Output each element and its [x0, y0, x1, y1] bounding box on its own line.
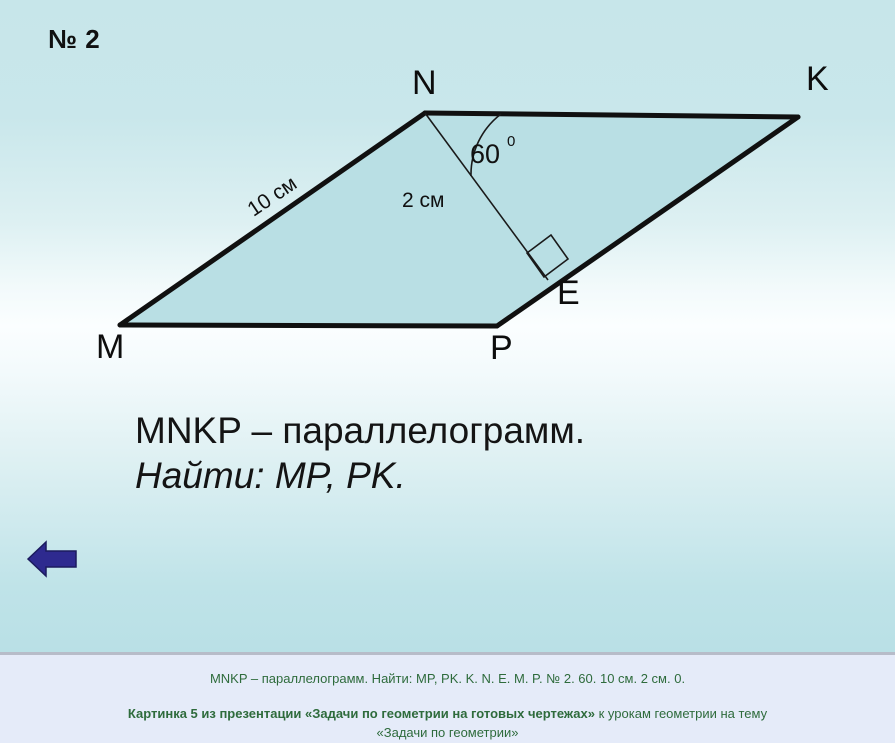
- angle-degree-symbol: 0: [507, 134, 515, 149]
- vertex-label-M: M: [96, 330, 124, 364]
- problem-statement: MNKP – параллелограмм. Найти: MP, PK.: [135, 408, 835, 498]
- slide-page: № 2 M N K: [0, 0, 895, 743]
- parallelogram-MNKP-fill: [120, 113, 798, 326]
- slide-canvas: № 2 M N K: [0, 0, 895, 652]
- geometry-figure: M N K P E 10 см 2 см 60 0: [0, 0, 895, 400]
- attribution-source: Картинка 5 из презентации «Задачи по гео…: [128, 706, 595, 721]
- footer-bar: MNKP – параллелограмм. Найти: MP, PK. K.…: [0, 652, 895, 743]
- image-caption: MNKP – параллелограмм. Найти: MP, PK. K.…: [0, 671, 895, 686]
- attribution-topic: к урокам геометрии на тему: [595, 706, 767, 721]
- figure-svg: [0, 0, 895, 400]
- attribution-topic-title: «Задачи по геометрии»: [377, 725, 519, 740]
- left-arrow-icon[interactable]: [26, 535, 78, 583]
- vertex-label-K: K: [806, 62, 829, 96]
- statement-given-line: MNKP – параллелограмм.: [135, 408, 835, 453]
- back-arrow-button[interactable]: [26, 535, 78, 583]
- statement-find-line: Найти: MP, PK.: [135, 453, 835, 498]
- edge-MP: [120, 325, 497, 326]
- vertex-label-P: P: [490, 331, 513, 365]
- vertex-label-N: N: [412, 66, 437, 100]
- vertex-label-E: E: [557, 276, 580, 310]
- angle-value-label: 60: [470, 141, 500, 168]
- attribution-text: Картинка 5 из презентации «Задачи по гео…: [0, 705, 895, 743]
- altitude-length-NE-label: 2 см: [402, 190, 444, 211]
